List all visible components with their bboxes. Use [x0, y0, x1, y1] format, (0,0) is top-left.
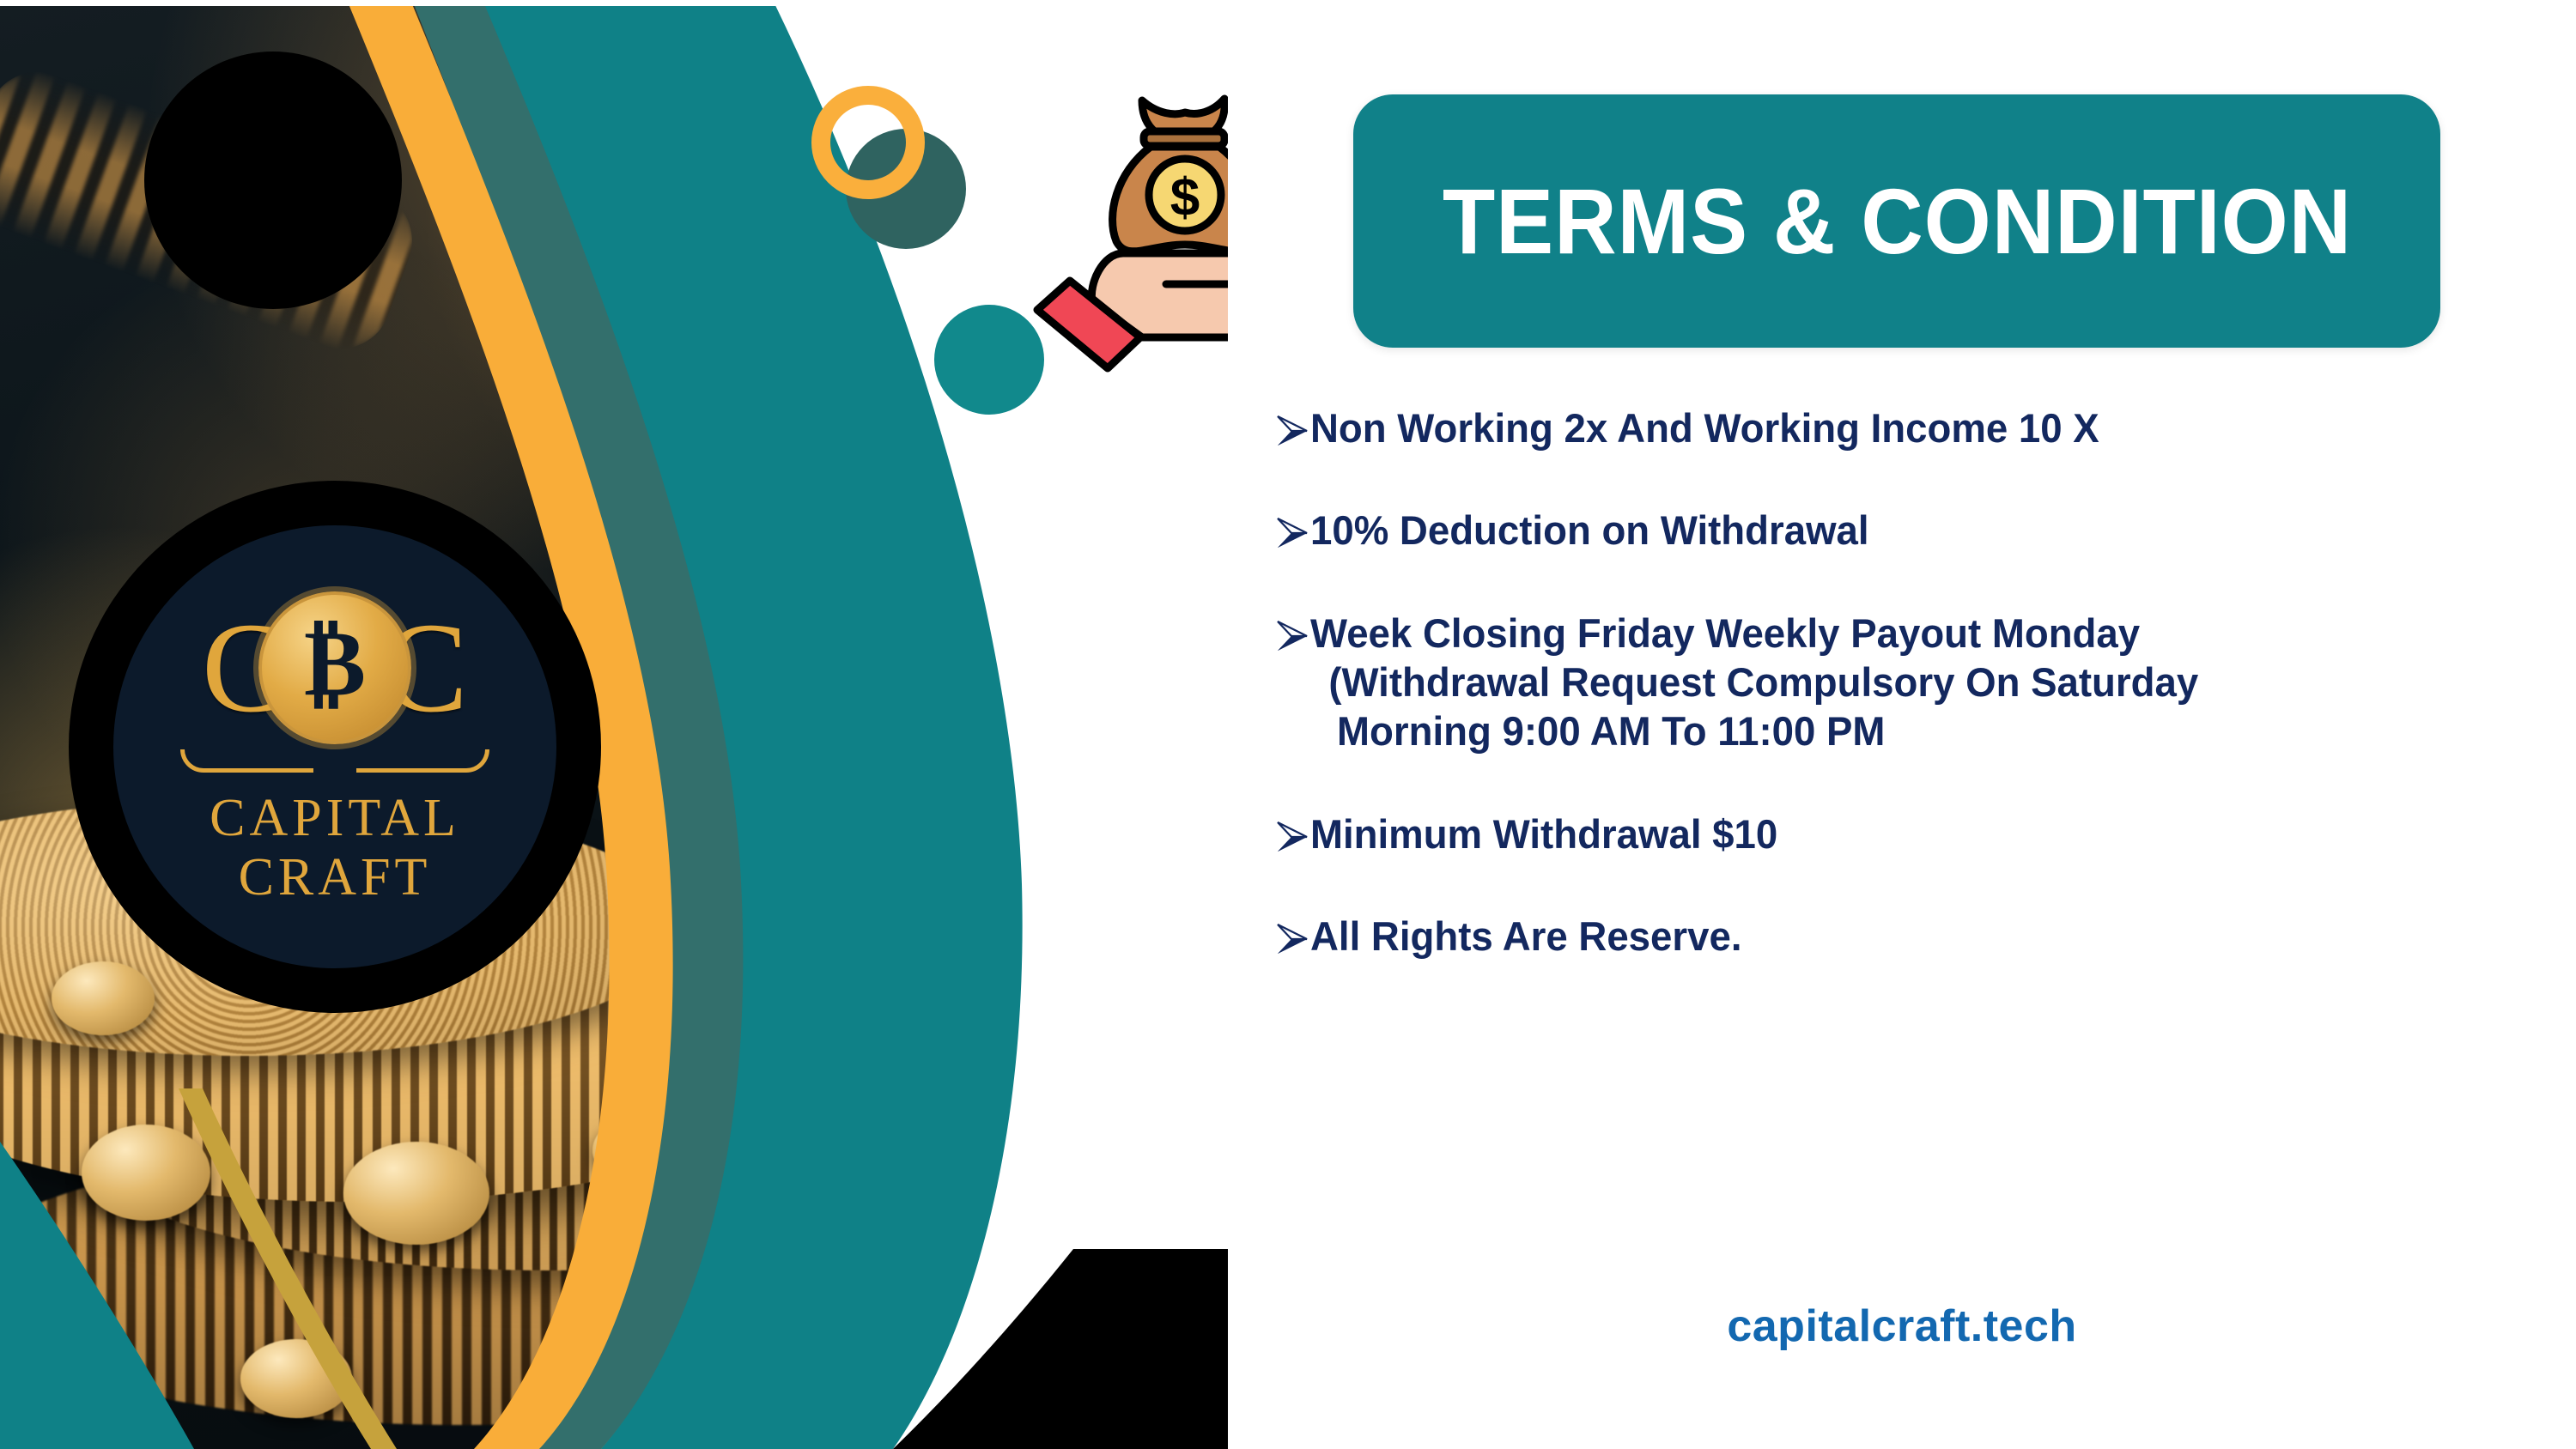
list-item: Week Closing Friday Weekly Payout Monday… — [1273, 609, 2561, 756]
logo-name-line-2: CRAFT — [210, 848, 460, 907]
terms-list: Non Working 2x And Working Income 10 X 1… — [1273, 403, 2561, 961]
teal-corner-bottom-left — [0, 1142, 194, 1449]
bitcoin-symbol: ₿ — [304, 618, 366, 711]
logo-flourish-ornament — [180, 744, 489, 773]
flourish-right — [356, 749, 489, 773]
list-item-line: 10% Deduction on Withdrawal — [1310, 506, 2523, 555]
teal-circle-decor — [934, 305, 1044, 415]
list-item-text: Minimum Withdrawal $10 — [1310, 809, 2561, 858]
logo-inner-disc: C ₿ C CAPITAL CRAFT — [113, 525, 556, 968]
list-item-line: All Rights Are Reserve. — [1310, 912, 2523, 961]
right-content-panel: TERMS & CONDITION Non Working 2x And Wor… — [1228, 0, 2576, 1449]
flourish-left — [180, 749, 313, 773]
dollar-symbol: $ — [1170, 168, 1200, 227]
list-item: All Rights Are Reserve. — [1273, 912, 2561, 961]
page-title: TERMS & CONDITION — [1442, 167, 2351, 275]
list-item-line: Week Closing Friday Weekly Payout Monday — [1310, 609, 2523, 658]
list-item: Non Working 2x And Working Income 10 X — [1273, 403, 2561, 452]
list-item-text: Week Closing Friday Weekly Payout Monday… — [1310, 609, 2561, 756]
bitcoin-coin-icon: ₿ — [258, 591, 411, 744]
logo-name-line-1: CAPITAL — [210, 789, 460, 848]
page-title-banner: TERMS & CONDITION — [1353, 94, 2440, 348]
list-item-text: All Rights Are Reserve. — [1310, 912, 2561, 961]
list-item-text: Non Working 2x And Working Income 10 X — [1310, 403, 2561, 452]
list-item-line: (Withdrawal Request Compulsory On Saturd… — [1310, 658, 2523, 706]
top-white-strip — [0, 0, 962, 6]
arrow-bullet-icon — [1273, 514, 1310, 552]
arrow-bullet-icon — [1273, 818, 1310, 856]
terms-and-conditions-poster: C ₿ C CAPITAL CRAFT — [0, 0, 2576, 1449]
gold-accent-line — [179, 1088, 397, 1449]
list-item-line: Morning 9:00 AM To 11:00 PM — [1310, 706, 2523, 755]
website-link[interactable]: capitalcraft.tech — [1228, 1300, 2576, 1352]
logo-monogram: C ₿ C — [167, 586, 502, 749]
list-item-text: 10% Deduction on Withdrawal — [1310, 506, 2561, 555]
arrow-bullet-icon — [1273, 920, 1310, 958]
logo-brand-name: CAPITAL CRAFT — [210, 789, 460, 908]
list-item-line: Non Working 2x And Working Income 10 X — [1310, 403, 2523, 452]
list-item: 10% Deduction on Withdrawal — [1273, 506, 2561, 555]
orange-ring-decor — [811, 86, 925, 199]
list-item-line: Minimum Withdrawal $10 — [1310, 809, 2523, 858]
arrow-bullet-icon — [1273, 412, 1310, 450]
capital-craft-logo: C ₿ C CAPITAL CRAFT — [69, 481, 601, 1013]
list-item: Minimum Withdrawal $10 — [1273, 809, 2561, 858]
arrow-bullet-icon — [1273, 617, 1310, 655]
